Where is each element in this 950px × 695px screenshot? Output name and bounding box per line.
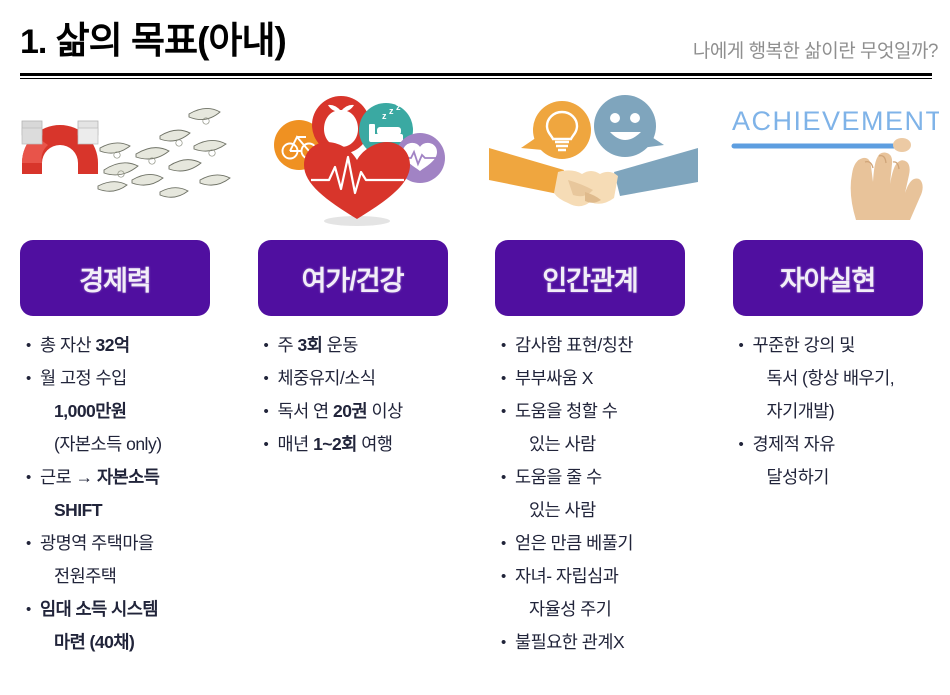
title-number: 1.: [20, 23, 46, 61]
bullet-text: 있는 사람: [515, 495, 596, 526]
page-subtitle: 나에게 행복한 삶이란 무엇일까?: [693, 36, 938, 63]
bullet-text: 달성하기: [753, 462, 829, 493]
content-columns: 경제력 • 총 자산 32억 • 월 고정 수입 • 1,000만원 • (자본…: [0, 88, 950, 695]
bullet-text: 있는 사람: [515, 429, 596, 460]
bullet-list-self-realization: • 꾸준한 강의 및 • 독서 (항상 배우기, • 자기개발) • 경제적 자…: [739, 330, 945, 495]
bullet-text: 임대 소득 시스템: [40, 594, 158, 625]
list-item: • 불필요한 관계X: [501, 627, 707, 658]
list-item: • 도움을 줄 수: [501, 462, 707, 493]
bullet-marker: •: [739, 330, 753, 361]
bullet-text: 월 고정 수입: [40, 363, 127, 394]
list-item-continuation: • 달성하기: [739, 462, 945, 493]
bullet-marker: •: [501, 396, 515, 427]
list-item-continuation: • 1,000만원: [26, 396, 232, 427]
list-item-continuation: • 독서 (항상 배우기,: [739, 363, 945, 394]
bullet-marker: •: [264, 363, 278, 394]
list-item: • 독서 연 20권 이상: [264, 396, 470, 427]
handshake-icon: [489, 148, 698, 206]
bullet-text-bold: 32억: [96, 335, 130, 355]
list-item: • 주 3회 운동: [264, 330, 470, 361]
category-label: 자아실현: [780, 259, 875, 298]
list-item-continuation: • 마련 (40채): [26, 627, 232, 658]
bullet-text: 마련 (40채): [40, 627, 134, 658]
list-item-continuation: • 있는 사람: [501, 429, 707, 460]
list-item-continuation: • 자율성 주기: [501, 594, 707, 625]
category-box-economic-power[interactable]: 경제력: [20, 240, 210, 316]
bullet-list-economic-power: • 총 자산 32억 • 월 고정 수입 • 1,000만원 • (자본소득 o…: [26, 330, 232, 660]
bullet-text: 전원주택: [40, 561, 116, 592]
bullet-text: 도움을 청할 수: [515, 396, 617, 427]
list-item: • 체중유지/소식: [264, 363, 470, 394]
svg-text:z: z: [396, 102, 401, 112]
bullet-text: 총 자산: [40, 335, 96, 355]
column-leisure-health: zzz 여가/건강: [238, 88, 476, 695]
list-item: • 근로 → 자본소득: [26, 462, 232, 493]
list-item: • 감사함 표현/칭찬: [501, 330, 707, 361]
column-economic-power: 경제력 • 총 자산 32억 • 월 고정 수입 • 1,000만원 • (자본…: [0, 88, 238, 695]
header-divider-thick: [20, 73, 932, 76]
bullet-marker: •: [26, 462, 40, 493]
bullet-marker: •: [264, 330, 278, 361]
bullet-text-bold: 자본소득: [97, 467, 159, 487]
bullet-text: 얻은 만큼 베풀기: [515, 528, 633, 559]
health-heart-image: zzz: [238, 88, 476, 233]
bullet-text: 불필요한 관계X: [515, 627, 624, 658]
list-item-continuation: • 자기개발): [739, 396, 945, 427]
bullet-text: 독서 연: [278, 401, 334, 421]
category-label: 여가/건강: [302, 259, 404, 298]
bullet-marker: •: [26, 363, 40, 394]
category-box-leisure-health[interactable]: 여가/건강: [258, 240, 448, 316]
bullet-text: 독서 (항상 배우기,: [753, 363, 895, 394]
bullet-text: 도움을 줄 수: [515, 462, 602, 493]
bullet-list-human-relations: • 감사함 표현/칭찬 • 부부싸움 X • 도움을 청할 수 • 있는 사람 …: [501, 330, 707, 660]
svg-text:z: z: [389, 106, 394, 116]
hand-icon: [850, 138, 922, 220]
bullet-marker: •: [26, 528, 40, 559]
bullet-text-bold: 1~2회: [313, 434, 357, 454]
bullet-marker: •: [501, 363, 515, 394]
bullet-marker: •: [501, 462, 515, 493]
bullet-text-tail: 이상: [367, 401, 403, 421]
bullet-text: 주: [278, 335, 298, 355]
achievement-image: ACHIEVEMENT: [713, 88, 950, 233]
magnet-money-image: [0, 88, 238, 233]
bullet-list-leisure-health: • 주 3회 운동 • 체중유지/소식 • 독서 연 20권 이상 • 매년 1…: [264, 330, 470, 462]
category-box-self-realization[interactable]: 자아실현: [733, 240, 923, 316]
bullet-text: 자녀- 자립심과: [515, 561, 618, 592]
slide-header: 1. 삶의 목표(아내) 나에게 행복한 삶이란 무엇일까?: [0, 0, 950, 82]
magnet-icon: [22, 88, 98, 174]
heart-icon: [304, 142, 410, 226]
list-item: • 경제적 자유: [739, 429, 945, 460]
bullet-text: 체중유지/소식: [278, 363, 376, 394]
bullet-text: 광명역 주택마을: [40, 528, 154, 559]
list-item: • 자녀- 자립심과: [501, 561, 707, 592]
achievement-word: ACHIEVEMENT: [732, 106, 939, 136]
bullet-text: 경제적 자유: [753, 429, 835, 460]
bullet-text: 자율성 주기: [515, 594, 611, 625]
bullet-marker: •: [26, 594, 40, 625]
svg-text:z: z: [382, 111, 387, 121]
bullet-marker: •: [264, 429, 278, 460]
category-label: 경제력: [79, 259, 151, 298]
header-divider-thin: [20, 78, 932, 79]
category-label: 인간관계: [542, 259, 637, 298]
list-item-continuation: • 전원주택: [26, 561, 232, 592]
bullet-marker: •: [264, 396, 278, 427]
page-title: 1. 삶의 목표(아내): [20, 10, 286, 64]
bullet-text: 감사함 표현/칭찬: [515, 330, 633, 361]
bullet-marker: •: [501, 330, 515, 361]
list-item: • 매년 1~2회 여행: [264, 429, 470, 460]
column-self-realization: ACHIEVEMENT 자아실현 • 꾸준한 강의 및 • 독서 (항상 배우기…: [713, 88, 950, 695]
handshake-image: [475, 88, 713, 233]
lightbulb-bubble-icon: [521, 101, 591, 159]
list-item: • 도움을 청할 수: [501, 396, 707, 427]
bullet-text: 자기개발): [753, 396, 835, 427]
list-item: • 총 자산 32억: [26, 330, 232, 361]
bullet-marker: •: [501, 627, 515, 658]
dollar-bills-icon: [98, 108, 230, 197]
bullet-marker: •: [26, 330, 40, 361]
list-item: • 부부싸움 X: [501, 363, 707, 394]
list-item-continuation: • 있는 사람: [501, 495, 707, 526]
smiley-bubble-icon: [594, 95, 664, 157]
list-item-continuation: • (자본소득 only): [26, 429, 232, 460]
bullet-marker: •: [501, 528, 515, 559]
bullet-text-tail: 운동: [322, 335, 358, 355]
bullet-text-tail: 여행: [357, 434, 393, 454]
bullet-marker: •: [739, 429, 753, 460]
bullet-text: 근로 →: [40, 467, 97, 487]
bullet-text: 매년: [278, 434, 314, 454]
list-item-continuation: • SHIFT: [26, 495, 232, 526]
bullet-text: 꾸준한 강의 및: [753, 330, 855, 361]
bullet-text-bold: 3회: [297, 335, 322, 355]
title-text: 삶의 목표(아내): [56, 20, 286, 61]
list-item: • 얻은 만큼 베풀기: [501, 528, 707, 559]
bullet-text: SHIFT: [40, 495, 102, 526]
list-item: • 임대 소득 시스템: [26, 594, 232, 625]
bullet-text: (자본소득 only): [40, 429, 162, 460]
bullet-text: 1,000만원: [40, 396, 127, 427]
list-item: • 월 고정 수입: [26, 363, 232, 394]
bullet-marker: •: [501, 561, 515, 592]
column-human-relations: 인간관계 • 감사함 표현/칭찬 • 부부싸움 X • 도움을 청할 수 • 있…: [475, 88, 713, 695]
bullet-text: 부부싸움 X: [515, 363, 593, 394]
list-item: • 꾸준한 강의 및: [739, 330, 945, 361]
list-item: • 광명역 주택마을: [26, 528, 232, 559]
category-box-human-relations[interactable]: 인간관계: [495, 240, 685, 316]
bullet-text-bold: 20권: [333, 401, 367, 421]
